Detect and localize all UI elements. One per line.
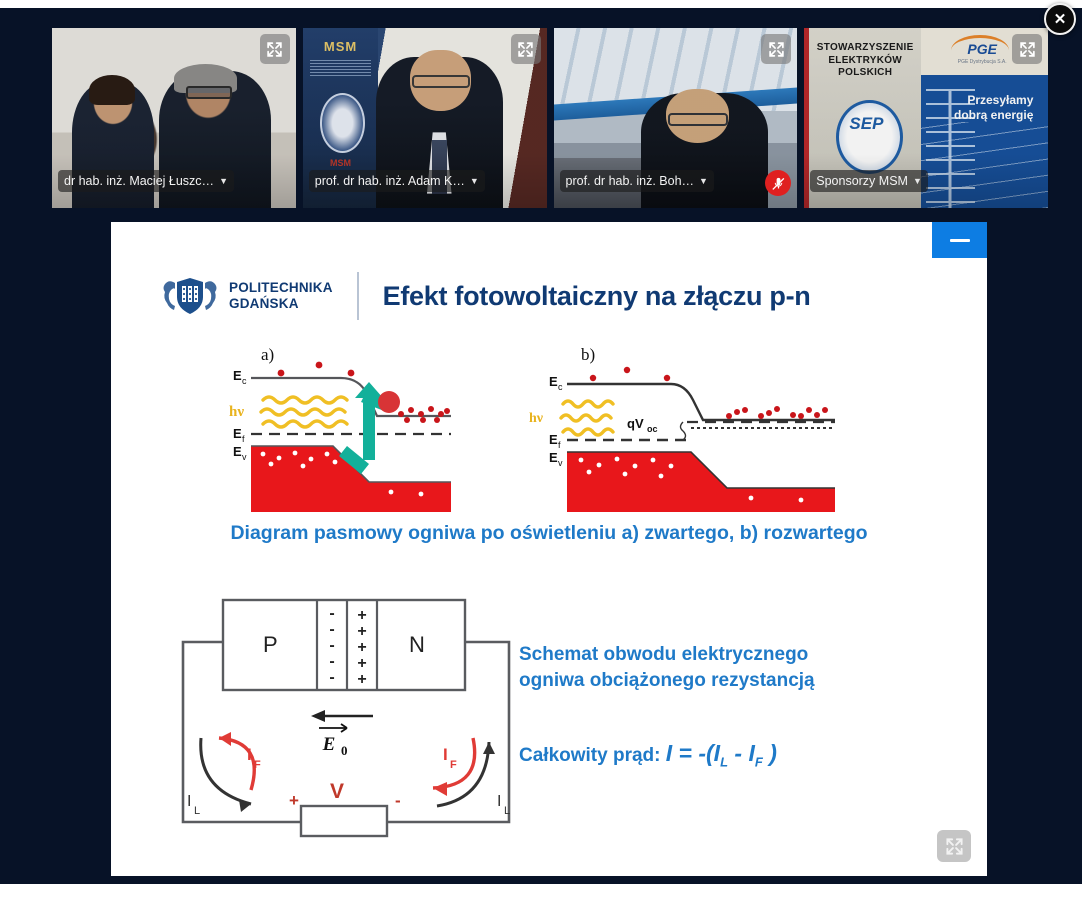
svg-text:oc: oc (647, 424, 658, 434)
svg-text:-: - (329, 605, 334, 622)
svg-text:f: f (558, 440, 561, 450)
participant-name-bar[interactable]: prof. dr hab. inż. Boh… ▼ (560, 170, 714, 192)
svg-text:b): b) (581, 345, 595, 364)
expand-icon[interactable] (1012, 34, 1042, 64)
svg-text:F: F (450, 759, 457, 771)
logo-line-1: POLITECHNIKA (229, 280, 333, 296)
svg-text:F: F (254, 759, 261, 771)
participant-name-bar[interactable]: Sponsorzy MSM ▼ (810, 170, 928, 192)
svg-text:P: P (263, 632, 278, 657)
svg-text:0: 0 (341, 743, 348, 758)
svg-text:V: V (330, 780, 344, 803)
expand-icon[interactable] (511, 34, 541, 64)
svg-text:I: I (187, 793, 191, 810)
chevron-down-icon[interactable]: ▼ (470, 177, 479, 186)
slide-right-text: Schemat obwodu elektrycznego ogniwa obci… (519, 642, 969, 770)
svg-text:+: + (357, 639, 366, 656)
svg-text:I: I (443, 745, 448, 764)
video-tile-2[interactable]: MSM MSM prof. dr hab. inż. Adam K… ▼ (303, 28, 547, 208)
band-diagram-figure: a) E c E f E v hν (111, 342, 987, 502)
svg-text:-: - (395, 791, 401, 810)
participant-name-bar[interactable]: prof. dr hab. inż. Adam K… ▼ (309, 170, 485, 192)
heraldic-crest-icon (159, 275, 221, 317)
svg-text:c: c (558, 382, 563, 392)
svg-text:L: L (504, 805, 510, 817)
svg-text:+: + (289, 791, 299, 810)
chevron-down-icon[interactable]: ▼ (913, 177, 922, 186)
svg-text:-: - (329, 653, 334, 670)
participant-name: prof. dr hab. inż. Boh… (566, 174, 695, 188)
svg-text:E: E (233, 444, 242, 459)
svg-text:E: E (549, 450, 558, 465)
svg-text:E: E (549, 374, 558, 389)
participant-name-bar[interactable]: dr hab. inż. Maciej Łuszc… ▼ (58, 170, 234, 192)
svg-text:-: - (329, 637, 334, 654)
slide-header: POLITECHNIKA GDAŃSKA Efekt fotowoltaiczn… (159, 272, 811, 320)
total-current-formula: I = -(IL - IF ) (666, 740, 777, 766)
total-current-prefix: Całkowity prąd: (519, 745, 660, 766)
svg-text:c: c (242, 376, 247, 386)
svg-text:a): a) (261, 345, 274, 364)
video-tile-4[interactable]: STOWARZYSZENIE ELEKTRYKÓW POLSKICH SEP P… (804, 28, 1048, 208)
logo-line-2: GDAŃSKA (229, 296, 333, 312)
svg-text:hν: hν (529, 411, 544, 426)
svg-text:+: + (357, 655, 366, 672)
video-tile-3[interactable]: prof. dr hab. inż. Boh… ▼ (554, 28, 798, 208)
svg-text:qV: qV (627, 416, 644, 431)
band-diagram-caption: Diagram pasmowy ogniwa po oświetleniu a)… (111, 522, 987, 545)
right-text-line-1: Schemat obwodu elektrycznego (519, 642, 969, 668)
expand-icon[interactable] (260, 34, 290, 64)
politechnika-gdanska-logo: POLITECHNIKA GDAŃSKA (159, 275, 333, 317)
svg-text:L: L (194, 805, 200, 817)
expand-icon[interactable] (937, 830, 971, 862)
right-text-line-2: ogniwa obciążonego rezystancją (519, 668, 969, 694)
video-tile-1[interactable]: dr hab. inż. Maciej Łuszc… ▼ (52, 28, 296, 208)
svg-text:+: + (357, 671, 366, 688)
total-current-line: Całkowity prąd: I = -(IL - IF ) (519, 740, 969, 770)
video-tile-strip: dr hab. inż. Maciej Łuszc… ▼ MSM MSM (52, 28, 1048, 208)
participant-name: Sponsorzy MSM (816, 174, 908, 188)
svg-text:E: E (322, 734, 336, 755)
expand-icon[interactable] (761, 34, 791, 64)
close-icon[interactable]: ✕ (1044, 3, 1076, 35)
header-divider (357, 272, 359, 320)
chevron-down-icon[interactable]: ▼ (219, 177, 228, 186)
slide-title: Efekt fotowoltaiczny na złączu p-n (383, 281, 811, 312)
svg-text:N: N (409, 632, 425, 657)
svg-text:E: E (549, 432, 558, 447)
participant-name: dr hab. inż. Maciej Łuszc… (64, 174, 214, 188)
svg-text:f: f (242, 434, 245, 444)
logo-text: POLITECHNIKA GDAŃSKA (229, 280, 333, 312)
meeting-window: ✕ dr hab. inż. Maciej Łuszc… ▼ (0, 0, 1082, 897)
svg-text:hν: hν (229, 404, 244, 420)
minimize-button[interactable] (932, 222, 987, 258)
chevron-down-icon[interactable]: ▼ (699, 177, 708, 186)
svg-text:-: - (329, 669, 334, 686)
svg-text:-: - (329, 621, 334, 638)
participant-name: prof. dr hab. inż. Adam K… (315, 174, 465, 188)
svg-text:I: I (247, 745, 252, 764)
svg-text:I: I (497, 793, 501, 810)
svg-text:+: + (357, 623, 366, 640)
svg-text:E: E (233, 368, 242, 383)
svg-text:+: + (357, 607, 366, 624)
shared-slide-panel: POLITECHNIKA GDAŃSKA Efekt fotowoltaiczn… (111, 222, 987, 876)
svg-text:E: E (233, 426, 242, 441)
circuit-diagram-figure: P N ----- +++++ V + - E 0 (151, 590, 541, 850)
svg-text:v: v (558, 458, 563, 468)
svg-text:v: v (242, 452, 247, 462)
